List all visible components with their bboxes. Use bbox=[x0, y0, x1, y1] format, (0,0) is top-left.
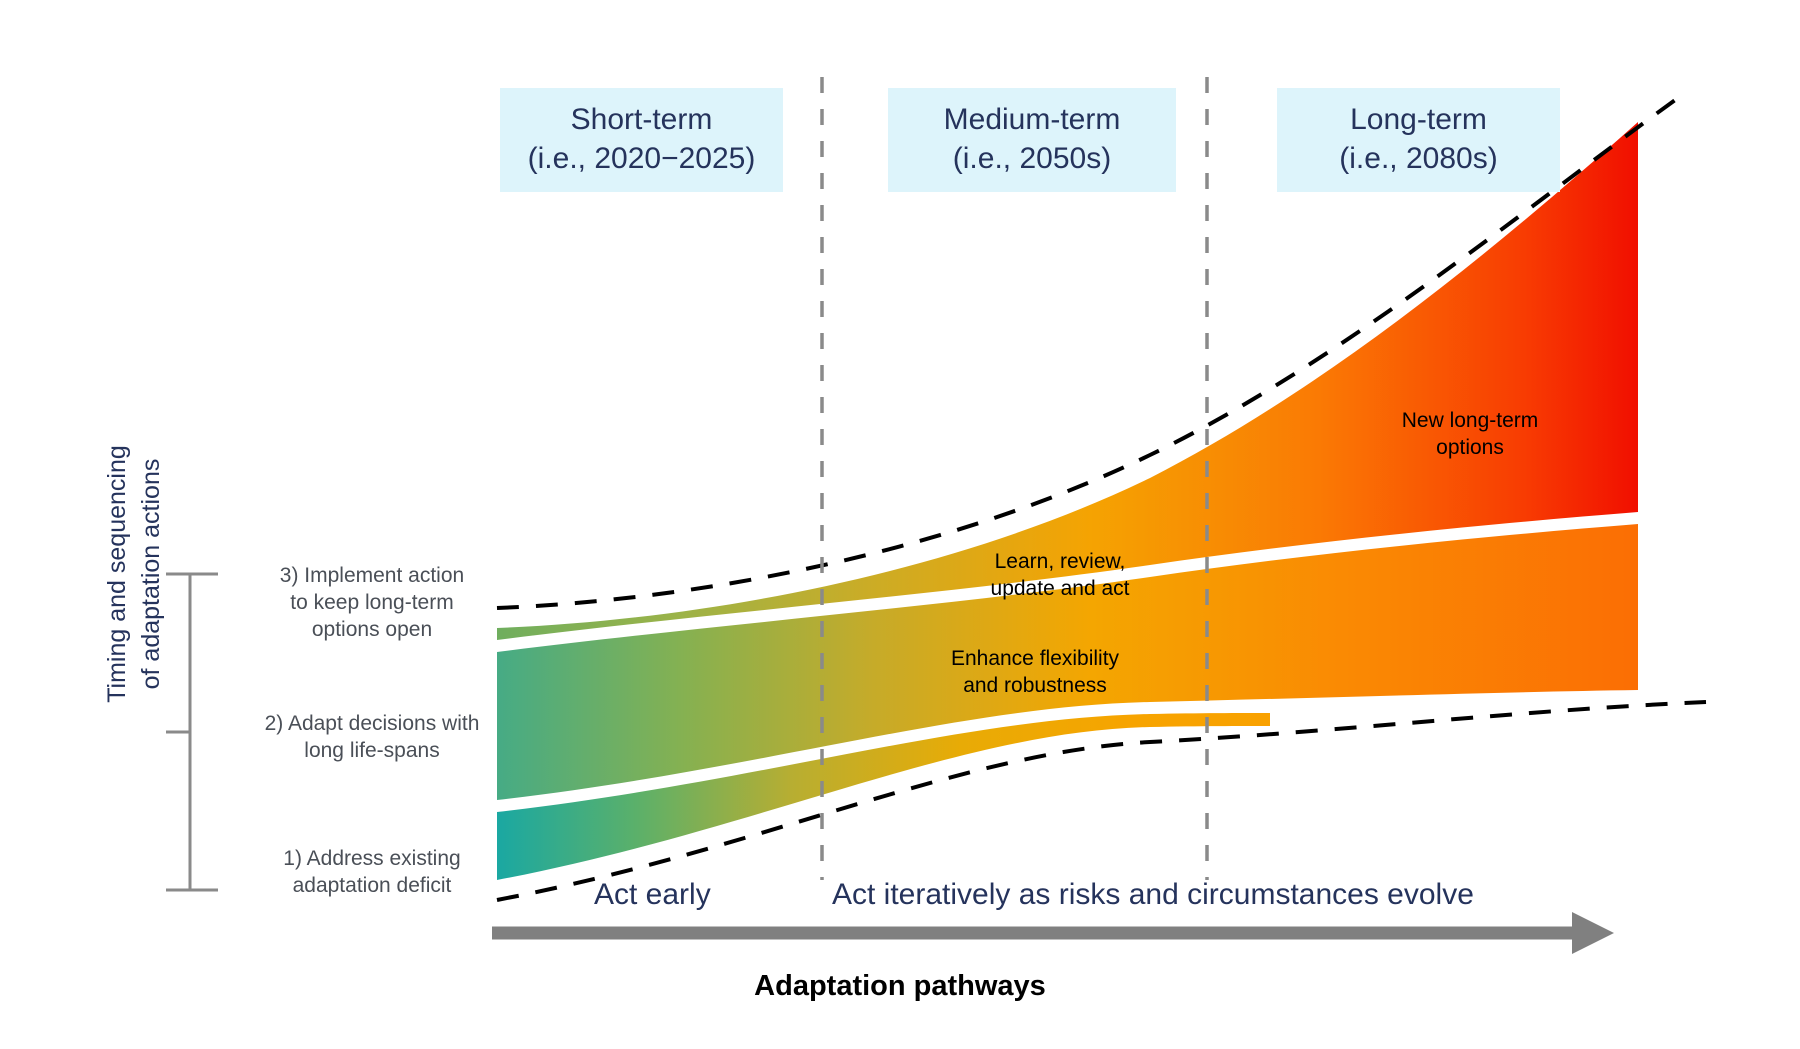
bracket-label-implement-action: 3) Implement action to keep long-term op… bbox=[237, 562, 507, 643]
bottom-axis-title: Adaptation pathways bbox=[0, 970, 1800, 1003]
figure-canvas: Short-term (i.e., 2020−2025) Medium-term… bbox=[0, 0, 1800, 1049]
period-title: Long-term bbox=[1277, 100, 1560, 139]
period-subtitle: (i.e., 2050s) bbox=[888, 139, 1176, 178]
period-chip-short-term[interactable]: Short-term (i.e., 2020−2025) bbox=[500, 88, 783, 192]
left-bracket-icon bbox=[166, 574, 218, 890]
bracket-label-line-2: adaptation deficit bbox=[237, 872, 507, 899]
bracket-label-line-1: 1) Address existing bbox=[237, 845, 507, 872]
right-arrow-icon bbox=[492, 912, 1614, 954]
band-note-enhance-flexibility: Enhance flexibility and robustness bbox=[905, 645, 1165, 699]
period-subtitle: (i.e., 2080s) bbox=[1277, 139, 1560, 178]
axis-title-line-1: Timing and sequencing bbox=[100, 384, 134, 764]
band-note-line-2: update and act bbox=[930, 575, 1190, 602]
bracket-label-line-2: to keep long-term bbox=[237, 589, 507, 616]
period-subtitle: (i.e., 2020−2025) bbox=[500, 139, 783, 178]
bracket-label-line-1: 3) Implement action bbox=[237, 562, 507, 589]
bracket-label-line-3: options open bbox=[237, 616, 507, 643]
caption-act-iteratively: Act iteratively as risks and circumstanc… bbox=[832, 876, 1474, 914]
band-note-learn-review: Learn, review, update and act bbox=[930, 548, 1190, 602]
band-note-new-long-term-options: New long-term options bbox=[1340, 407, 1600, 461]
band-note-line-2: and robustness bbox=[905, 672, 1165, 699]
axis-title-line-2: of adaptation actions bbox=[134, 384, 168, 764]
bracket-label-adapt-decisions: 2) Adapt decisions with long life-spans bbox=[237, 710, 507, 764]
period-chip-medium-term[interactable]: Medium-term (i.e., 2050s) bbox=[888, 88, 1176, 192]
caption-act-early: Act early bbox=[594, 876, 711, 914]
bracket-label-line-2: long life-spans bbox=[237, 737, 507, 764]
vertical-axis-title: Timing and sequencing of adaptation acti… bbox=[100, 384, 168, 764]
band-note-line-2: options bbox=[1340, 434, 1600, 461]
period-title: Medium-term bbox=[888, 100, 1176, 139]
period-title: Short-term bbox=[500, 100, 783, 139]
band-note-line-1: Enhance flexibility bbox=[905, 645, 1165, 672]
band-note-line-1: New long-term bbox=[1340, 407, 1600, 434]
bracket-label-address-deficit: 1) Address existing adaptation deficit bbox=[237, 845, 507, 899]
bracket-label-line-1: 2) Adapt decisions with bbox=[237, 710, 507, 737]
period-chip-long-term[interactable]: Long-term (i.e., 2080s) bbox=[1277, 88, 1560, 192]
band-note-line-1: Learn, review, bbox=[930, 548, 1190, 575]
